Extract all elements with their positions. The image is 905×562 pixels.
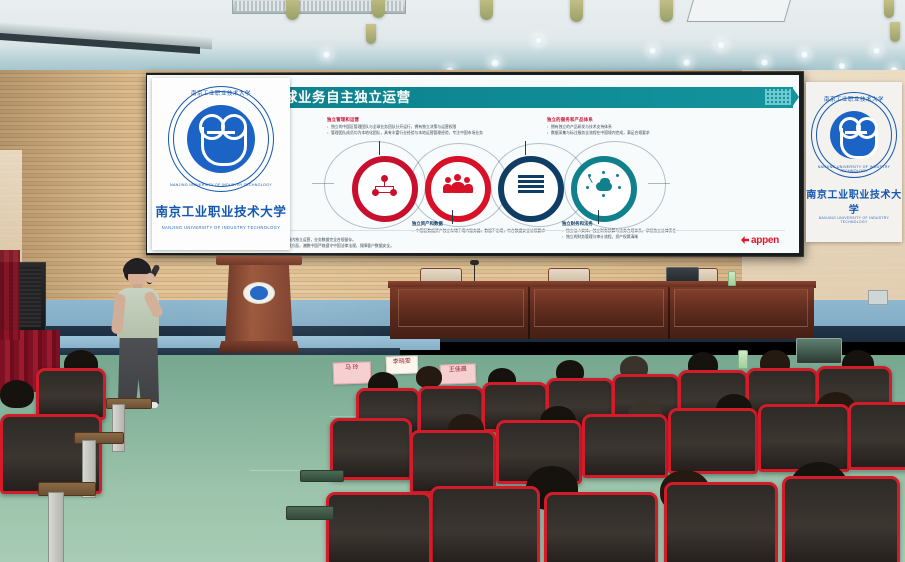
seal-ring-text-cn-right: 南京工业职业技术大学 bbox=[811, 95, 897, 103]
ring-4-network bbox=[571, 156, 637, 222]
pendant-light-7 bbox=[884, 0, 894, 18]
audience-seat-c5[interactable] bbox=[782, 476, 900, 562]
pendant-light-3 bbox=[480, 0, 493, 20]
stage-light-bloom bbox=[140, 240, 440, 360]
name-card-text-1: 马 玲 bbox=[334, 362, 370, 372]
audience-head-a2 bbox=[416, 366, 442, 388]
university-seal-icon: 南京工业职业技术大学 NANJING UNIVERSITY OF INDUSTR… bbox=[168, 86, 274, 192]
university-name-cn: 南京工业职业技术大学 bbox=[152, 201, 290, 220]
pendant-light-8 bbox=[890, 22, 900, 42]
left-block-heading: 独立管理和运营 bbox=[327, 117, 517, 123]
audience-head-b2 bbox=[0, 380, 34, 408]
caption-right-heading: 独立财务和法务 bbox=[562, 221, 702, 227]
ceiling-spot-6 bbox=[682, 58, 691, 67]
university-emblem-board-left: 南京工业职业技术大学 NANJING UNIVERSITY OF INDUSTR… bbox=[152, 78, 290, 250]
seat-name-card-3: 李晓雯 bbox=[386, 355, 419, 374]
ceiling-spot-10 bbox=[872, 46, 881, 55]
university-name-en-right: NANJING UNIVERSITY OF INDUSTRY TECHNOLOG… bbox=[806, 216, 902, 224]
seat-name-card-1: 马 玲 bbox=[333, 361, 372, 384]
laptop-back-row bbox=[796, 338, 842, 364]
ceiling-spot-4 bbox=[648, 46, 657, 55]
right-block-heading: 独立的服务和产品体系 bbox=[547, 117, 717, 123]
presenter-pants bbox=[118, 338, 159, 404]
seat-leg-3 bbox=[48, 492, 64, 562]
pendant-light-6 bbox=[366, 24, 376, 44]
university-seal-icon-right: 南京工业职业技术大学 NANJING UNIVERSITY OF INDUSTR… bbox=[811, 92, 897, 178]
name-card-text-2: 王佳晨 bbox=[441, 364, 475, 374]
name-card-text-3: 李晓雯 bbox=[387, 356, 417, 366]
axis-right bbox=[648, 183, 670, 184]
audience-seat-b5[interactable] bbox=[668, 408, 758, 474]
ceiling-spot-7 bbox=[760, 58, 769, 67]
audience-seat-b2[interactable] bbox=[410, 430, 496, 494]
axis-left bbox=[312, 183, 334, 184]
university-name-en: NANJING UNIVERSITY OF INDUSTRY TECHNOLOG… bbox=[152, 225, 290, 230]
seat-leg-1 bbox=[112, 404, 125, 452]
ring-3-document bbox=[498, 156, 564, 222]
ring-diagram bbox=[342, 153, 642, 215]
ring-connector-3 bbox=[525, 141, 526, 155]
pendant-light-5 bbox=[660, 0, 673, 22]
ring-2-people bbox=[425, 156, 491, 222]
audience-seat-b4[interactable] bbox=[582, 414, 668, 478]
conference-table bbox=[388, 281, 816, 343]
slide-left-block: 独立管理和运营 独立的中国区管理团队与全球业务团队分开运行，拥有独立决策与运营权… bbox=[327, 117, 517, 136]
appen-mark-icon bbox=[741, 236, 749, 244]
caption-left-heading: 独立资产和数据 bbox=[412, 221, 552, 227]
right-block-bullet-2: 数据采集与标注服务全流程在中国境内完成，满足合规要求 bbox=[551, 131, 717, 137]
pendant-light-2 bbox=[372, 0, 385, 18]
table-inlay-3 bbox=[674, 289, 808, 327]
university-name-cn-right: 南京工业职业技术大学 bbox=[806, 186, 902, 216]
water-bottle-1 bbox=[728, 271, 736, 286]
audience-seat-c4[interactable] bbox=[664, 482, 778, 562]
lecture-hall-photo: 澳鹏中国独立于全球业务自主独立运营 独立管理和运营 独立的中国区管理团队与全球业… bbox=[0, 0, 905, 562]
slide-decoration-dots bbox=[765, 89, 791, 105]
ring-connector-1 bbox=[379, 141, 380, 155]
network-cloud-icon bbox=[589, 174, 619, 204]
audience-seat-c6[interactable] bbox=[326, 492, 432, 562]
audience-seat-b7[interactable] bbox=[848, 402, 905, 470]
document-list-icon bbox=[516, 174, 546, 204]
slide-right-block: 独立的服务和产品体系 拥有独立的产品研发与技术支持体系 数据采集与标注服务全流程… bbox=[547, 117, 717, 136]
water-bottle-2 bbox=[738, 350, 748, 369]
wall-outlet-panel bbox=[868, 290, 888, 305]
seal-ring-text-cn: 南京工业职业技术大学 bbox=[168, 89, 274, 97]
ceiling-spot-1 bbox=[322, 50, 331, 59]
table-inlay-2 bbox=[534, 289, 664, 327]
ceiling-spot-2 bbox=[490, 58, 500, 68]
caption-left-block: 独立资产和数据 中国区数据资产独立存储于境内服务器，数据不出境，符合数据安全法规… bbox=[412, 221, 552, 235]
ceiling-spot-8 bbox=[800, 50, 809, 59]
table-microphone bbox=[474, 263, 475, 282]
pendant-light-4 bbox=[570, 0, 583, 22]
seat-writing-tablet-4 bbox=[300, 470, 344, 482]
university-emblem-board-right: 南京工业职业技术大学 NANJING UNIVERSITY OF INDUSTR… bbox=[806, 82, 902, 242]
table-joint-1 bbox=[528, 287, 530, 339]
appen-logo-text: appen bbox=[751, 235, 779, 246]
table-joint-2 bbox=[668, 287, 670, 339]
seat-writing-tablet-5 bbox=[286, 506, 334, 520]
people-group-icon bbox=[443, 174, 473, 204]
audience-seat-b0[interactable] bbox=[36, 368, 106, 420]
seat-writing-tablet-3 bbox=[38, 482, 96, 496]
left-block-bullet-2: 管理团队成员均为本地化团队，具有丰富行业经验与本地运营管理经验，专注中国市场业务 bbox=[331, 131, 517, 137]
seal-ring-text-en-right: NANJING UNIVERSITY OF INDUSTRY TECHNOLOG… bbox=[811, 165, 897, 173]
seat-name-card-2: 王佳晨 bbox=[440, 363, 477, 384]
ceiling-spot-5 bbox=[716, 40, 726, 50]
pendant-light-1 bbox=[286, 0, 299, 20]
audience-seat-b6[interactable] bbox=[758, 404, 850, 472]
org-chart-icon bbox=[370, 174, 400, 204]
ceiling-spot-9 bbox=[838, 62, 846, 70]
stage-curtain-upper bbox=[0, 250, 20, 340]
audience-seat-c2[interactable] bbox=[430, 486, 540, 562]
audience-seat-c3[interactable] bbox=[544, 492, 658, 562]
seal-ring-text-en: NANJING UNIVERSITY OF INDUSTRY TECHNOLOG… bbox=[168, 183, 274, 187]
appen-logo: appen bbox=[741, 235, 779, 246]
ring-1-org bbox=[352, 156, 418, 222]
ceiling-spot-3 bbox=[534, 36, 543, 45]
presenter-hair-front bbox=[123, 260, 151, 274]
ac-vent-right bbox=[687, 0, 792, 22]
